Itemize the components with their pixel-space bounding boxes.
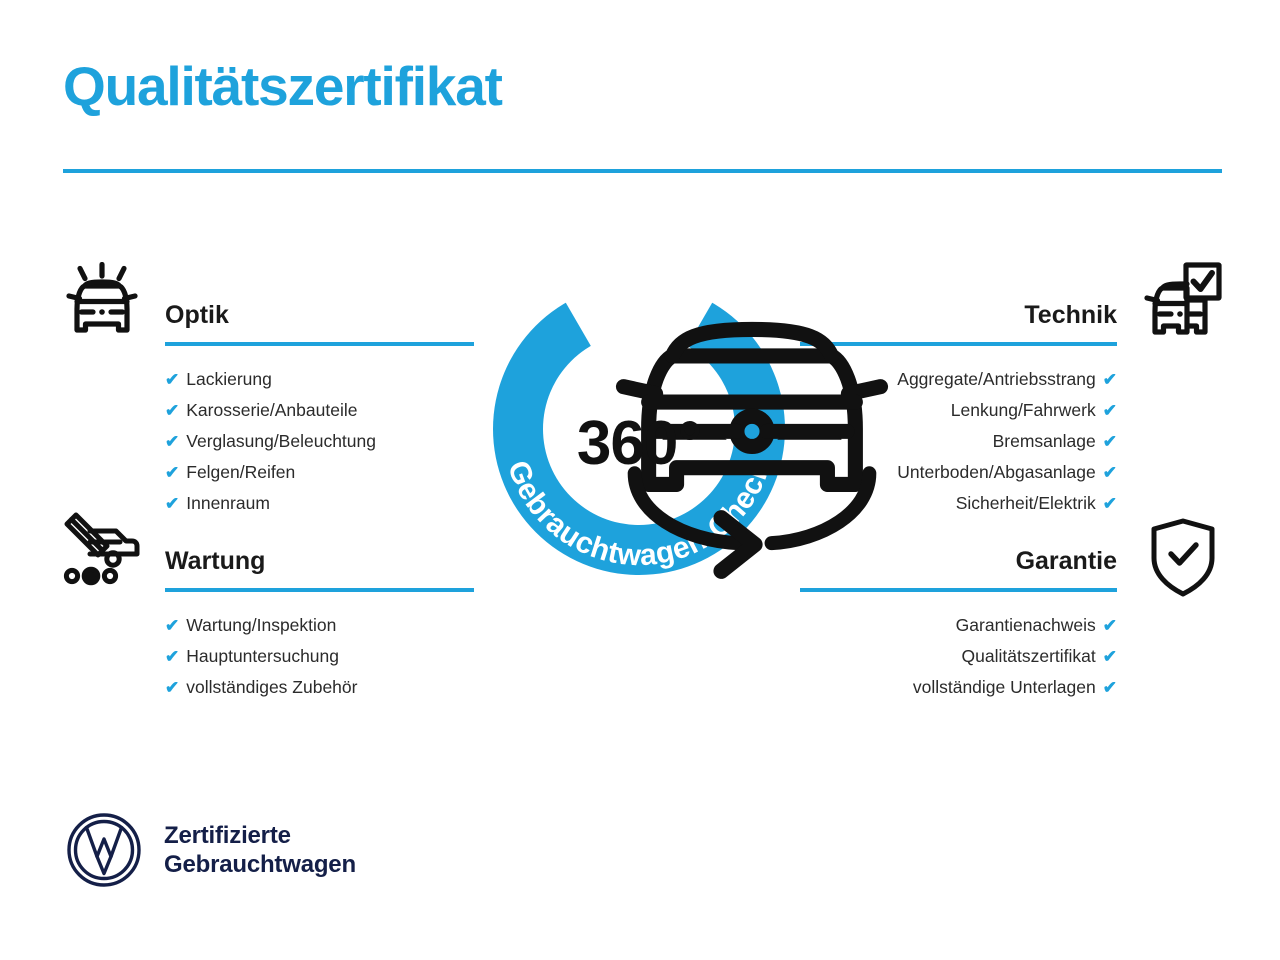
section-wartung-list: ✔ Wartung/Inspektion ✔ Hauptuntersuchung…: [165, 610, 474, 703]
check-icon: ✔: [165, 365, 179, 395]
list-item-label: Bremsanlage: [993, 426, 1096, 456]
list-item-label: vollständige Unterlagen: [913, 672, 1096, 702]
check-icon: ✔: [165, 673, 179, 703]
list-item: ✔ Innenraum: [165, 488, 474, 519]
check-icon: ✔: [165, 611, 179, 641]
list-item: Garantienachweis ✔: [800, 610, 1117, 641]
section-optik-list: ✔ Lackierung ✔ Karosserie/Anbauteile ✔ V…: [165, 364, 474, 519]
list-item: Qualitätszertifikat ✔: [800, 641, 1117, 672]
list-item-label: Hauptuntersuchung: [186, 641, 339, 671]
section-optik: Optik ✔ Lackierung ✔ Karosserie/Anbautei…: [165, 300, 474, 519]
list-item: ✔ Verglasung/Beleuchtung: [165, 426, 474, 457]
vw-logo: [66, 812, 142, 888]
list-item-label: Garantienachweis: [956, 610, 1096, 640]
list-item-label: Lackierung: [186, 364, 272, 394]
section-wartung: Wartung ✔ Wartung/Inspektion ✔ Hauptunte…: [165, 546, 474, 703]
footer-line-1: Zertifizierte: [164, 821, 356, 850]
list-item-label: Karosserie/Anbauteile: [186, 395, 357, 425]
list-item: ✔ Hauptuntersuchung: [165, 641, 474, 672]
section-optik-title: Optik: [165, 300, 474, 330]
list-item-label: Innenraum: [186, 488, 270, 518]
section-optik-header: Optik: [165, 300, 474, 346]
check-icon: ✔: [1103, 427, 1117, 457]
check-icon: ✔: [165, 458, 179, 488]
list-item: ✔ Lackierung: [165, 364, 474, 395]
check-icon: ✔: [1103, 611, 1117, 641]
check-icon: ✔: [165, 642, 179, 672]
list-item-label: Wartung/Inspektion: [186, 610, 336, 640]
check-icon: ✔: [1103, 396, 1117, 426]
list-item: vollständige Unterlagen ✔: [800, 672, 1117, 703]
list-item: ✔ Felgen/Reifen: [165, 457, 474, 488]
section-garantie-list: Garantienachweis ✔ Qualitätszertifikat ✔…: [800, 610, 1117, 703]
list-item-label: Sicherheit/Elektrik: [956, 488, 1096, 518]
check-icon: ✔: [165, 396, 179, 426]
badge-value: 360°: [463, 413, 815, 475]
certificate-page: Qualitätszertifikat Optik ✔ Lackierung: [0, 0, 1280, 960]
check-icon: ✔: [1103, 642, 1117, 672]
section-optik-underline: [165, 342, 474, 346]
list-item-label: Felgen/Reifen: [186, 457, 295, 487]
list-item-label: Verglasung/Beleuchtung: [186, 426, 376, 456]
vw-certified-lockup: Zertifizierte Gebrauchtwagen: [66, 812, 356, 888]
section-wartung-title: Wartung: [165, 546, 474, 576]
list-item-label: vollständiges Zubehör: [186, 672, 357, 702]
check-icon: ✔: [1103, 458, 1117, 488]
shield-check-icon: [1150, 518, 1216, 598]
list-item: ✔ Wartung/Inspektion: [165, 610, 474, 641]
list-item: ✔ Karosserie/Anbauteile: [165, 395, 474, 426]
car-checkbox-icon: [1142, 262, 1222, 344]
list-item: ✔ vollständiges Zubehör: [165, 672, 474, 703]
check-icon: ✔: [165, 489, 179, 519]
car-front-rotate-icon: [576, 247, 702, 355]
footer-text: Zertifizierte Gebrauchtwagen: [164, 821, 356, 879]
car-service-pen-icon: [60, 512, 144, 594]
car-shine-icon: [60, 262, 144, 344]
title-divider: [63, 169, 1222, 173]
check-icon: ✔: [1103, 365, 1117, 395]
badge-360-gebrauchtwagen-check: Gebrauchtwagen-Check 360°: [463, 253, 815, 605]
check-icon: ✔: [165, 427, 179, 457]
section-wartung-underline: [165, 588, 474, 592]
list-item-label: Qualitätszertifikat: [962, 641, 1096, 671]
footer-line-2: Gebrauchtwagen: [164, 850, 356, 879]
check-icon: ✔: [1103, 489, 1117, 519]
section-wartung-header: Wartung: [165, 546, 474, 592]
list-item-label: Lenkung/Fahrwerk: [951, 395, 1096, 425]
page-title: Qualitätszertifikat: [63, 58, 502, 116]
check-icon: ✔: [1103, 673, 1117, 703]
